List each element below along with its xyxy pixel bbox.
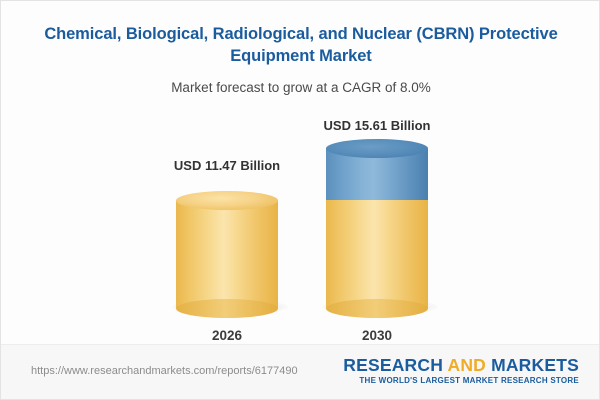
chart-header: Chemical, Biological, Radiological, and … <box>1 1 600 95</box>
bar-segment-base-2026 <box>176 200 278 308</box>
logo-word-and: AND <box>447 355 486 375</box>
footer-bar: https://www.researchandmarkets.com/repor… <box>1 344 600 399</box>
logo-word-research: RESEARCH <box>343 355 443 375</box>
bar-group-2030: USD 15.61 Billion 2030 <box>292 113 462 345</box>
bar-value-label-2026: USD 11.47 Billion <box>142 158 312 173</box>
bar-cylinder-2026[interactable] <box>176 200 278 308</box>
cylinder-top-cap <box>176 191 278 210</box>
report-url-link[interactable]: https://www.researchandmarkets.com/repor… <box>31 365 298 377</box>
bar-value-label-2030: USD 15.61 Billion <box>292 118 462 133</box>
bar-group-2026: USD 11.47 Billion 2026 <box>142 113 312 345</box>
cylinder-top-cap <box>326 139 428 158</box>
bar-cylinder-2030[interactable] <box>326 148 428 308</box>
chart-title: Chemical, Biological, Radiological, and … <box>41 23 561 67</box>
cylinder-body <box>326 200 428 308</box>
bar-category-label-2026: 2026 <box>142 328 312 343</box>
cylinder-bottom-cap <box>176 299 278 318</box>
bar-segment-base-2030 <box>326 200 428 308</box>
logo-word-markets: MARKETS <box>491 355 579 375</box>
chart-plot-area: USD 11.47 Billion 2026 USD 15.61 Billion <box>1 113 600 345</box>
research-and-markets-logo[interactable]: RESEARCH AND MARKETS THE WORLD'S LARGEST… <box>343 355 579 385</box>
cylinder-body <box>176 200 278 308</box>
chart-subtitle: Market forecast to grow at a CAGR of 8.0… <box>41 80 561 95</box>
bar-segment-growth-2030 <box>326 148 428 200</box>
infographic-container: Chemical, Biological, Radiological, and … <box>0 0 600 400</box>
bar-category-label-2030: 2030 <box>292 328 462 343</box>
logo-wordmark: RESEARCH AND MARKETS <box>343 355 579 375</box>
cylinder-bottom-cap <box>326 299 428 318</box>
logo-tagline: THE WORLD'S LARGEST MARKET RESEARCH STOR… <box>343 376 579 385</box>
